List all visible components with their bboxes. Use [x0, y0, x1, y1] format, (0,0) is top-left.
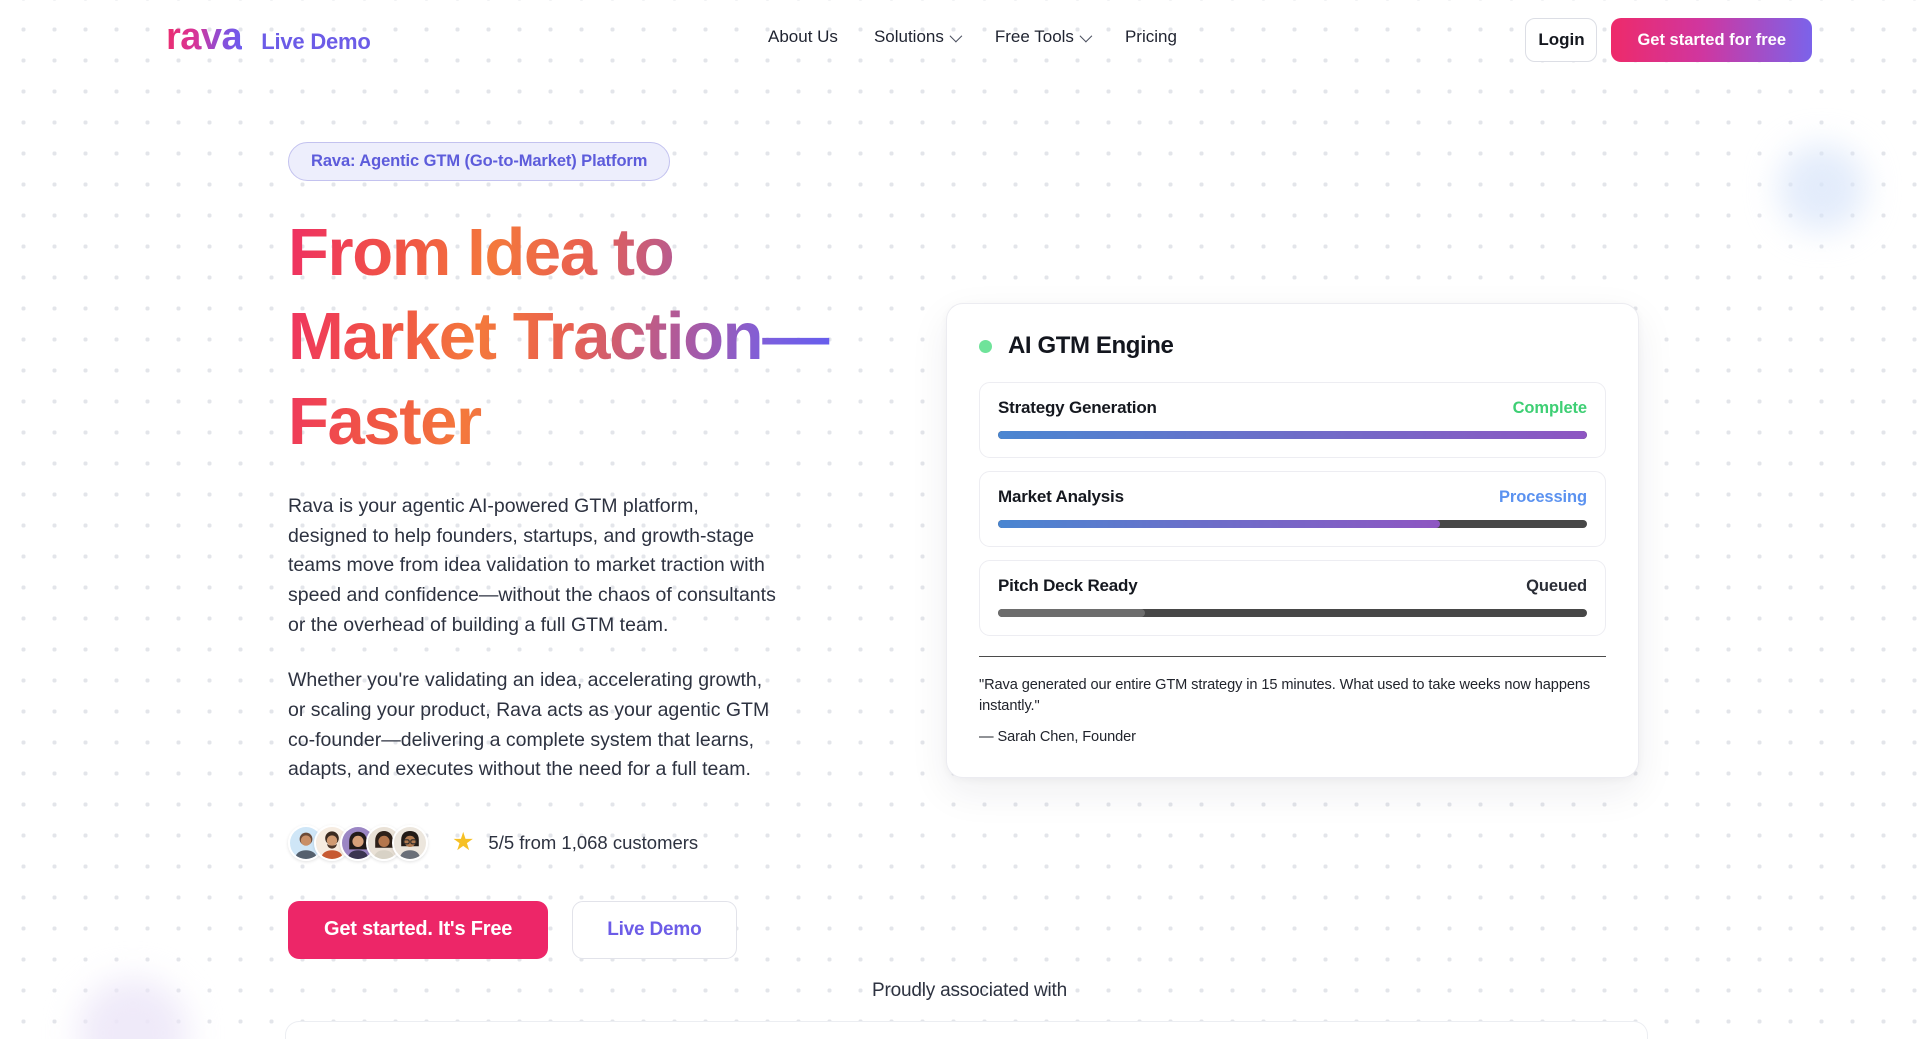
engine-header: AI GTM Engine: [979, 332, 1606, 360]
green-status-dot-icon: [979, 340, 992, 353]
proudly-associated-label: Proudly associated with: [872, 980, 1067, 1002]
divider: [979, 656, 1606, 657]
ai-gtm-engine-card: AI GTM Engine Strategy Generation Comple…: [946, 303, 1639, 778]
nav-label: Pricing: [1125, 27, 1177, 47]
rava-logo[interactable]: rava: [166, 18, 242, 56]
brand-zone[interactable]: rava Live Demo: [166, 18, 371, 56]
task-label: Market Analysis: [998, 487, 1124, 507]
status-badge: Complete: [1513, 399, 1587, 418]
site-header: rava Live Demo About Us Solutions Free T…: [0, 0, 1932, 80]
nav-label: Free Tools: [995, 27, 1074, 47]
progress-track: [998, 609, 1587, 617]
platform-badge[interactable]: Rava: Agentic GTM (Go-to-Market) Platfor…: [288, 142, 670, 181]
chevron-down-icon: [1079, 29, 1092, 42]
rating-text: 5/5 from 1,068 customers: [488, 832, 698, 854]
nav-item-solutions[interactable]: Solutions: [874, 27, 959, 47]
hero-content: Rava: Agentic GTM (Go-to-Market) Platfor…: [288, 142, 848, 959]
nav-item-pricing[interactable]: Pricing: [1125, 27, 1177, 47]
task-header: Pitch Deck Ready Queued: [998, 576, 1587, 596]
hero-paragraph-1: Rava is your agentic AI-powered GTM plat…: [288, 492, 780, 640]
star-icon: ★: [452, 830, 474, 855]
progress-track: [998, 520, 1587, 528]
live-demo-label[interactable]: Live Demo: [261, 29, 370, 55]
rating: ★ 5/5 from 1,068 customers: [452, 830, 698, 855]
avatar: [392, 825, 428, 861]
progress-fill: [998, 520, 1440, 528]
main-navigation: About Us Solutions Free Tools Pricing: [768, 27, 1177, 47]
partners-panel: [285, 1021, 1648, 1039]
task-header: Market Analysis Processing: [998, 487, 1587, 507]
landing-page: rava Live Demo About Us Solutions Free T…: [0, 0, 1932, 1039]
nav-label: About Us: [768, 27, 838, 47]
task-row[interactable]: Strategy Generation Complete: [979, 382, 1606, 458]
header-actions: Login Get started for free: [1525, 18, 1812, 62]
testimonial-quote: "Rava generated our entire GTM strategy …: [979, 675, 1606, 717]
hero-paragraph-2: Whether you're validating an idea, accel…: [288, 666, 780, 785]
chevron-down-icon: [949, 29, 962, 42]
page-title: From Idea to Market Traction—Faster: [288, 211, 848, 464]
hero-cta-row: Get started. It's Free Live Demo: [288, 901, 848, 959]
testimonial-author: — Sarah Chen, Founder: [979, 729, 1606, 745]
customer-avatars: [288, 825, 428, 861]
get-started-for-free-button[interactable]: Get started for free: [1611, 18, 1812, 62]
engine-title: AI GTM Engine: [1008, 332, 1173, 360]
social-proof: ★ 5/5 from 1,068 customers: [288, 825, 848, 861]
live-demo-button[interactable]: Live Demo: [572, 901, 736, 959]
nav-item-about-us[interactable]: About Us: [768, 27, 838, 47]
status-badge: Queued: [1526, 577, 1587, 596]
task-label: Strategy Generation: [998, 398, 1157, 418]
nav-label: Solutions: [874, 27, 944, 47]
nav-item-free-tools[interactable]: Free Tools: [995, 27, 1089, 47]
progress-fill: [998, 431, 1587, 439]
get-started-its-free-button[interactable]: Get started. It's Free: [288, 901, 548, 959]
task-row[interactable]: Pitch Deck Ready Queued: [979, 560, 1606, 636]
status-badge: Processing: [1499, 488, 1587, 507]
task-header: Strategy Generation Complete: [998, 398, 1587, 418]
progress-fill: [998, 609, 1145, 617]
task-label: Pitch Deck Ready: [998, 576, 1137, 596]
login-button[interactable]: Login: [1525, 18, 1597, 62]
progress-track: [998, 431, 1587, 439]
task-row[interactable]: Market Analysis Processing: [979, 471, 1606, 547]
